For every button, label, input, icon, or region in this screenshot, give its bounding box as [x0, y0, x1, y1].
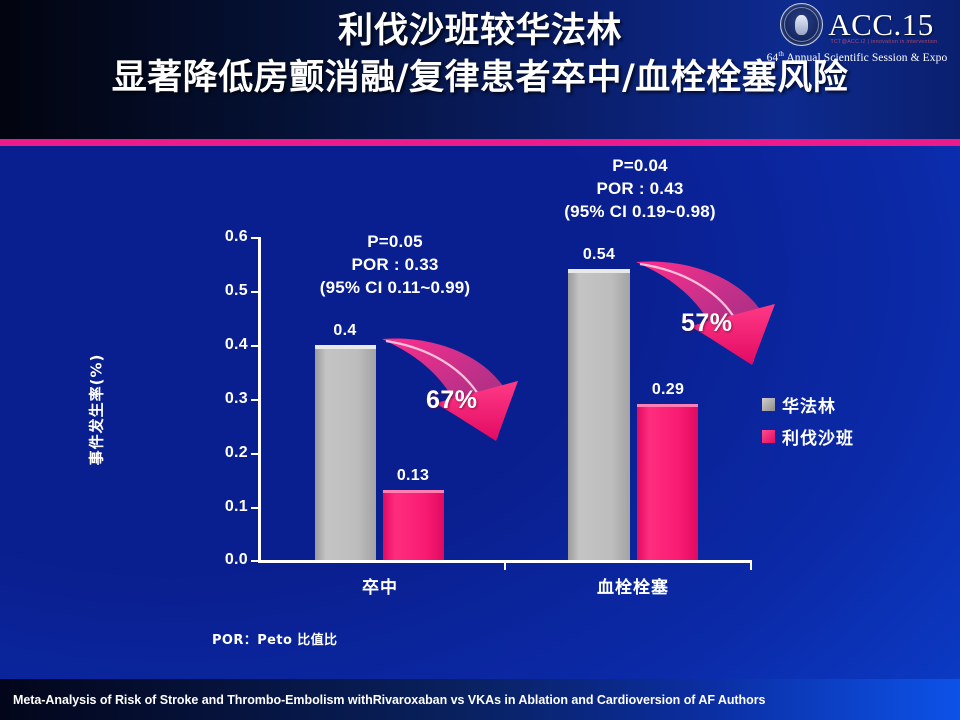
- legend-item-warfarin: 华法林: [762, 392, 854, 417]
- ci-thromboembolism: (95% CI 0.19~0.98): [510, 201, 770, 224]
- bar-warfarin-thromboembolism: [568, 269, 630, 560]
- presentation-slide: 利伐沙班较华法林 显著降低房颤消融/复律患者卒中/血栓栓塞风险 ACC.15 T…: [0, 0, 960, 720]
- bar-warfarin-stroke: [315, 345, 376, 560]
- slide-footer: Meta-Analysis of Risk of Stroke and Thro…: [0, 679, 960, 720]
- acc-seal-icon: [780, 3, 823, 46]
- seal-ring: [784, 7, 819, 42]
- tagline-number: 64: [767, 52, 779, 64]
- tagline-rest: Annual Scientific Session & Expo: [784, 52, 947, 64]
- slide-header: 利伐沙班较华法林 显著降低房颤消融/复律患者卒中/血栓栓塞风险 ACC.15 T…: [0, 0, 960, 139]
- legend-label-warfarin: 华法林: [782, 392, 836, 417]
- chart-legend: 华法林 利伐沙班: [762, 392, 854, 456]
- value-label-warfarin-thromboembolism: 0.54: [559, 246, 639, 264]
- reduction-arrow-stroke: 67%: [378, 331, 523, 466]
- x-tick-end: [750, 563, 752, 570]
- logo-tagline: 64th Annual Scientific Session & Expo: [764, 50, 950, 64]
- ci-stroke: (95% CI 0.11~0.99): [265, 277, 525, 300]
- reduction-percent-thromboembolism: 57%: [681, 309, 733, 338]
- p-value-thromboembolism: P=0.04: [510, 155, 770, 178]
- x-category-label-thromboembolism: 血栓栓塞: [553, 573, 713, 598]
- value-label-warfarin-stroke: 0.4: [305, 322, 385, 340]
- footer-citation: Meta-Analysis of Risk of Stroke and Thro…: [0, 693, 765, 707]
- x-category-label-stroke: 卒中: [300, 573, 460, 598]
- legend-swatch-warfarin: [762, 398, 775, 411]
- stat-annotation-stroke: P=0.05 POR : 0.33 (95% CI 0.11~0.99): [265, 231, 525, 300]
- reduction-percent-stroke: 67%: [426, 386, 478, 415]
- stat-annotation-thromboembolism: P=0.04 POR : 0.43 (95% CI 0.19~0.98): [510, 155, 770, 224]
- logo-subtext: TCT@ACC.i2 | innovation in intervention: [822, 39, 946, 45]
- x-tick-mid: [504, 563, 506, 570]
- por-definition-note: POR：Peto 比值比: [212, 629, 337, 648]
- value-label-rivaroxaban-stroke: 0.13: [373, 467, 453, 485]
- bar-rivaroxaban-stroke: [383, 490, 444, 560]
- bar-chart: 0.6 0.5 0.4 0.3 0.2 0.1 0.0 事件发生率(%) 0.4…: [0, 139, 960, 679]
- legend-item-rivaroxaban: 利伐沙班: [762, 424, 854, 449]
- por-stroke: POR : 0.33: [265, 254, 525, 277]
- logo-wordmark: ACC.15: [828, 9, 934, 40]
- reduction-arrow-thromboembolism: 57%: [632, 254, 780, 390]
- legend-label-rivaroxaban: 利伐沙班: [782, 424, 854, 449]
- legend-swatch-rivaroxaban: [762, 430, 775, 443]
- por-thromboembolism: POR : 0.43: [510, 178, 770, 201]
- acc-logo: ACC.15 TCT@ACC.i2 | innovation in interv…: [764, 2, 950, 68]
- p-value-stroke: P=0.05: [265, 231, 525, 254]
- bar-rivaroxaban-thromboembolism: [637, 404, 698, 560]
- y-tick-0.0: [251, 560, 258, 562]
